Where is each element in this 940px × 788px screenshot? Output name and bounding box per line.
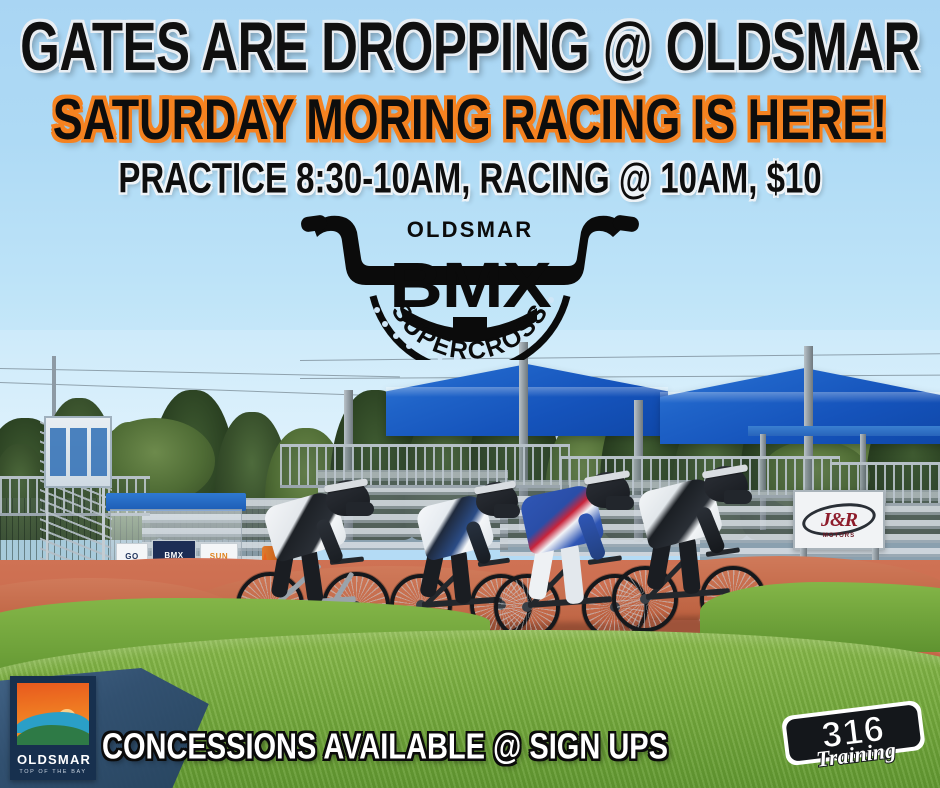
rider-leg <box>678 535 701 594</box>
oldsmar-logo-tagline: TOP OF THE BAY <box>17 769 89 775</box>
scoreboard <box>44 416 112 488</box>
rider-leg <box>560 541 584 605</box>
headline-primary: GATES ARE DROPPING @ OLDSMAR <box>0 12 940 81</box>
poster-root: GO BMX SUN J&R MOTORS <box>0 0 940 788</box>
jr-motors-sign: J&R MOTORS <box>793 490 885 550</box>
316-training-logo: 316 Training <box>778 700 930 776</box>
bmx-logo-top-text: OLDSMAR <box>407 217 534 242</box>
footer-concessions-text: CONCESSIONS AVAILABLE @ SIGN UPS <box>0 727 770 768</box>
oldsmar-bmx-supercross-logo: OLDSMAR BMX SU <box>295 200 645 360</box>
rider-leg <box>450 547 472 604</box>
pavilion-roof <box>748 426 940 436</box>
headline-secondary: SATURDAY MORING RACING IS HERE! <box>0 92 940 149</box>
headline-details: PRACTICE 8:30-10AM, RACING @ 10AM, $10 <box>0 156 940 199</box>
helmet-chinbar <box>346 502 374 516</box>
helmet-chinbar <box>724 490 752 504</box>
bmx-logo-smile-tab <box>453 317 487 331</box>
jr-motors-sub-label: MOTORS <box>795 533 883 539</box>
